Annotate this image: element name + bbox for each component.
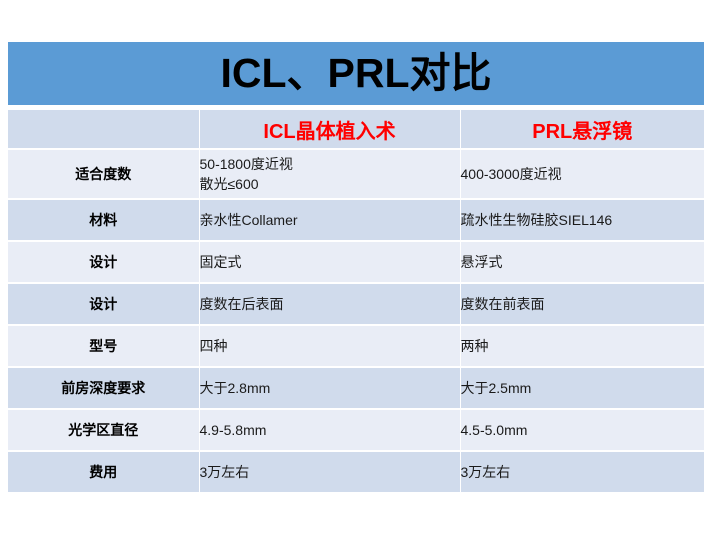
row-value-icl: 50-1800度近视 散光≤600 <box>199 149 460 199</box>
header-cell-prl: PRL悬浮镜 <box>460 110 704 149</box>
table-row: 光学区直径 4.9-5.8mm 4.5-5.0mm <box>8 409 704 451</box>
title-banner: ICL、PRL对比 <box>8 42 704 105</box>
header-label-icl: ICL晶体植入术 <box>263 121 395 143</box>
table-header-row: ICL晶体植入术 PRL悬浮镜 <box>8 110 704 149</box>
header-cell-blank <box>8 110 199 149</box>
row-value-prl: 3万左右 <box>460 451 704 493</box>
table-row: 费用 3万左右 3万左右 <box>8 451 704 493</box>
row-value-prl: 两种 <box>460 325 704 367</box>
row-value-prl: 400-3000度近视 <box>460 149 704 199</box>
header-label-prl: PRL悬浮镜 <box>532 121 632 143</box>
row-value-icl: 3万左右 <box>199 451 460 493</box>
row-value-prl: 悬浮式 <box>460 241 704 283</box>
header-cell-icl: ICL晶体植入术 <box>199 110 460 149</box>
table-row: 材料 亲水性Collamer 疏水性生物硅胶SIEL146 <box>8 199 704 241</box>
row-label: 光学区直径 <box>8 409 199 451</box>
row-label: 材料 <box>8 199 199 241</box>
table-row: 设计 固定式 悬浮式 <box>8 241 704 283</box>
table-row: 适合度数 50-1800度近视 散光≤600 400-3000度近视 <box>8 149 704 199</box>
row-label: 费用 <box>8 451 199 493</box>
row-value-icl: 亲水性Collamer <box>199 199 460 241</box>
row-value-prl: 4.5-5.0mm <box>460 409 704 451</box>
row-value-icl: 4.9-5.8mm <box>199 409 460 451</box>
table-row: 前房深度要求 大于2.8mm 大于2.5mm <box>8 367 704 409</box>
comparison-table: ICL晶体植入术 PRL悬浮镜 适合度数 50-1800度近视 散光≤600 4… <box>8 110 704 494</box>
row-value-icl: 度数在后表面 <box>199 283 460 325</box>
row-label: 设计 <box>8 241 199 283</box>
row-value-icl: 四种 <box>199 325 460 367</box>
row-value-prl: 疏水性生物硅胶SIEL146 <box>460 199 704 241</box>
row-value-icl: 固定式 <box>199 241 460 283</box>
table-row: 设计 度数在后表面 度数在前表面 <box>8 283 704 325</box>
page-title: ICL、PRL对比 <box>220 53 491 94</box>
row-label: 设计 <box>8 283 199 325</box>
row-value-prl: 度数在前表面 <box>460 283 704 325</box>
row-value-icl: 大于2.8mm <box>199 367 460 409</box>
row-label: 前房深度要求 <box>8 367 199 409</box>
row-value-prl: 大于2.5mm <box>460 367 704 409</box>
row-label: 适合度数 <box>8 149 199 199</box>
row-label: 型号 <box>8 325 199 367</box>
table-row: 型号 四种 两种 <box>8 325 704 367</box>
slide-canvas: ICL、PRL对比 ICL晶体植入术 PRL悬浮镜 适合度数 50-1800度近… <box>0 0 712 544</box>
